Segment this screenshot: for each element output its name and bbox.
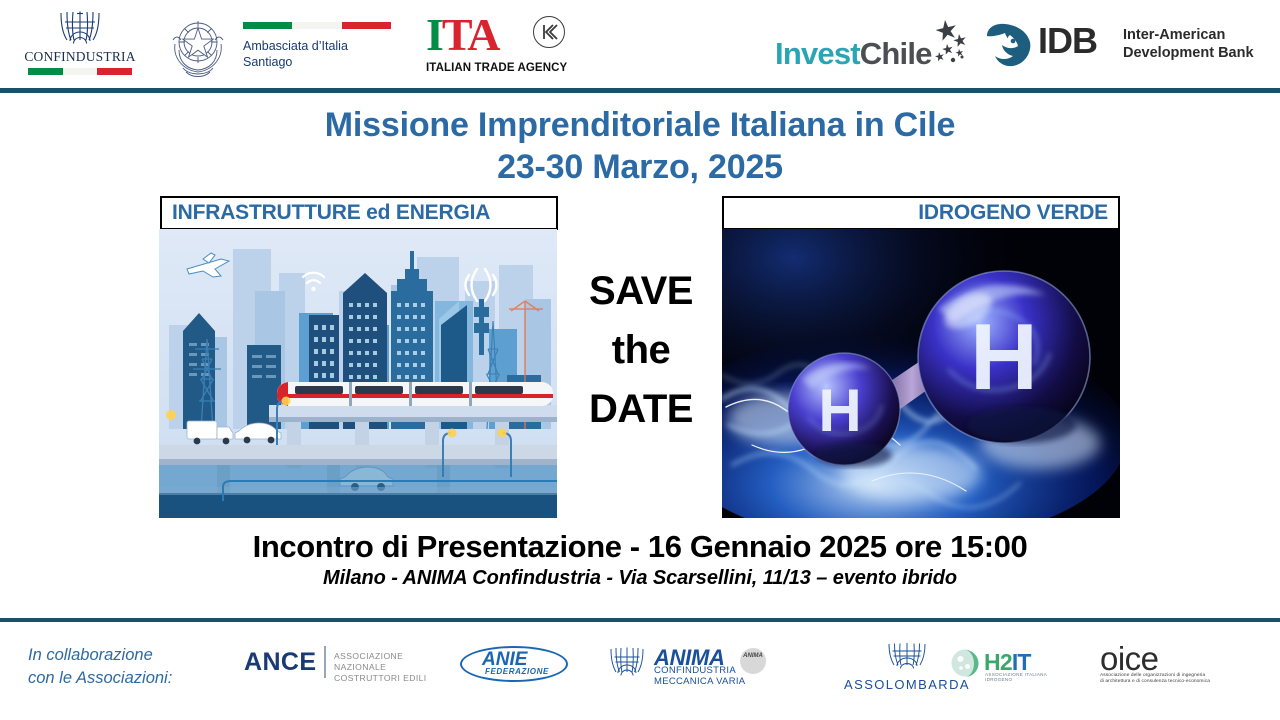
logo-anie: ANIE FEDERAZIONE bbox=[460, 646, 568, 682]
idb-abbrev: IDB bbox=[1038, 21, 1097, 61]
anima-sub-line1: CONFINDUSTRIA bbox=[654, 665, 745, 676]
idb-fullname: Inter-American Development Bank bbox=[1123, 26, 1254, 62]
oice-sub-line2: di architettura e di consulenza tecnico-… bbox=[1100, 679, 1210, 685]
save-the-date-block: SAVE the DATE bbox=[561, 262, 721, 439]
city-skyline-illustration bbox=[159, 229, 557, 518]
monorail-train-icon bbox=[277, 382, 553, 406]
idb-emblem-icon bbox=[983, 22, 1033, 68]
ance-sub-line1: ASSOCIAZIONE NAZIONALE bbox=[334, 651, 439, 673]
hydrogen-molecule-illustration: H H bbox=[722, 229, 1120, 518]
idb-name-line2: Development Bank bbox=[1123, 44, 1254, 62]
ita-letter-i: I bbox=[426, 9, 442, 60]
anima-sub-line2: MECCANICA VARIA bbox=[654, 676, 745, 687]
anima-badge-text: ANIMA bbox=[740, 653, 766, 659]
hydrogen-atom-small: H bbox=[788, 353, 900, 467]
logo-ance: ANCE ASSOCIAZIONE NAZIONALE COSTRUTTORI … bbox=[244, 646, 439, 680]
italian-flag-bar bbox=[243, 22, 391, 29]
panel-image-infrastrutture bbox=[159, 229, 557, 518]
panel-label-left-text: INFRASTRUTTURE ed ENERGIA bbox=[172, 201, 490, 225]
assolombarda-eagle-icon bbox=[885, 642, 929, 670]
oice-subtitle: Associazione delle organizzazioni di ing… bbox=[1100, 673, 1210, 686]
panel-label-idrogeno-verde: IDROGENO VERDE bbox=[722, 196, 1120, 230]
panel-label-right-text: IDROGENO VERDE bbox=[918, 201, 1108, 225]
logo-oice: oice Associazione delle organizzazioni d… bbox=[1100, 644, 1250, 684]
anima-round-badge-icon: ANIMA bbox=[740, 648, 766, 674]
confindustria-eagle-icon bbox=[57, 10, 103, 48]
logo-ambasciata-italia: Ambasciata d’Italia Santiago bbox=[165, 8, 405, 84]
hydrogen-letter-large: H bbox=[970, 304, 1038, 409]
investchile-wordmark: InvestChile bbox=[775, 36, 932, 72]
confindustria-wordmark: CONFINDUSTRIA bbox=[24, 49, 135, 65]
hydrogen-letter-small: H bbox=[818, 377, 861, 444]
logo-anima: ANIMA CONFINDUSTRIA MECCANICA VARIA ANIM… bbox=[608, 644, 778, 684]
ita-letters: ITA bbox=[426, 12, 498, 58]
save-the-date-line2: the bbox=[561, 321, 721, 380]
logo-confindustria: CONFINDUSTRIA bbox=[14, 10, 146, 82]
confindustria-tricolor-bar bbox=[28, 68, 132, 75]
event-venue-line: Milano - ANIMA Confindustria - Via Scars… bbox=[0, 567, 1280, 590]
header-logo-bar: CONFINDUSTRIA bbox=[0, 0, 1280, 90]
ambasciata-line1: Ambasciata d’Italia bbox=[243, 38, 348, 54]
logo-investchile: InvestChile bbox=[775, 18, 985, 78]
city-skyline-svg bbox=[159, 229, 557, 518]
ita-letter-a: A bbox=[467, 9, 498, 60]
anie-subtitle: FEDERAZIONE bbox=[485, 667, 549, 676]
event-title-line2: 23-30 Marzo, 2025 bbox=[0, 146, 1280, 188]
ance-wordmark: ANCE bbox=[244, 648, 316, 677]
h2it-leaf-circle-icon bbox=[950, 648, 980, 678]
hydrogen-atom-large: H bbox=[918, 271, 1090, 443]
save-the-date-line3: DATE bbox=[561, 380, 721, 439]
collaboration-line2: con le Associazioni: bbox=[28, 667, 172, 690]
collaboration-line1: In collaborazione bbox=[28, 644, 172, 667]
logo-idb: IDB Inter-American Development Bank bbox=[983, 20, 1273, 74]
ita-subtitle: ITALIAN TRADE AGENCY bbox=[426, 62, 567, 74]
idb-name-line1: Inter-American bbox=[1123, 26, 1254, 44]
investchile-stars-icon bbox=[915, 18, 981, 64]
collaboration-label: In collaborazione con le Associazioni: bbox=[28, 644, 172, 690]
ita-letter-t: T bbox=[442, 9, 467, 60]
ita-chevron-badge-icon bbox=[533, 16, 565, 48]
panel-image-idrogeno: H H bbox=[722, 229, 1120, 518]
logo-h2it: H2IT ASSOCIAZIONE ITALIANA IDROGENO bbox=[950, 648, 1074, 682]
ance-subtitle: ASSOCIAZIONE NAZIONALE COSTRUTTORI EDILI bbox=[334, 651, 439, 684]
event-meeting-line: Incontro di Presentazione - 16 Gennaio 2… bbox=[0, 529, 1280, 565]
anima-subtitle: CONFINDUSTRIA MECCANICA VARIA bbox=[654, 665, 745, 687]
italian-republic-emblem-icon bbox=[165, 10, 231, 82]
event-title-block: Missione Imprenditoriale Italiana in Cil… bbox=[0, 104, 1280, 188]
logo-italian-trade-agency: ITA ITALIAN TRADE AGENCY bbox=[420, 12, 580, 78]
ance-divider bbox=[324, 646, 326, 678]
save-the-date-line1: SAVE bbox=[561, 262, 721, 321]
ance-sub-line2: COSTRUTTORI EDILI bbox=[334, 673, 439, 684]
h2it-subtitle: ASSOCIAZIONE ITALIANA IDROGENO bbox=[985, 672, 1074, 682]
event-title-line1: Missione Imprenditoriale Italiana in Cil… bbox=[0, 104, 1280, 146]
oice-wordmark: oice bbox=[1100, 642, 1159, 676]
ambasciata-text: Ambasciata d’Italia Santiago bbox=[243, 38, 348, 70]
panel-label-infrastrutture-energia: INFRASTRUTTURE ed ENERGIA bbox=[160, 196, 558, 230]
header-divider-rule bbox=[0, 88, 1280, 93]
investchile-part-invest: Invest bbox=[775, 36, 860, 71]
hydrogen-molecule-svg: H H bbox=[722, 229, 1120, 518]
anima-eagle-icon bbox=[608, 646, 646, 680]
ambasciata-line2: Santiago bbox=[243, 54, 348, 70]
